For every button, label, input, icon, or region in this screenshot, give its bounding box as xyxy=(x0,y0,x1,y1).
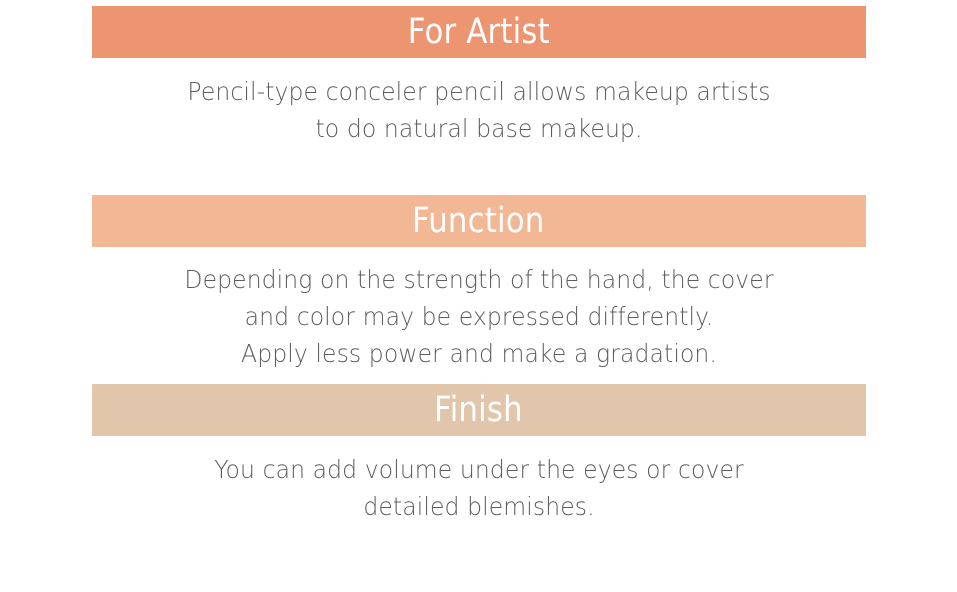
section-header-band-function: Function xyxy=(92,195,866,247)
section-header-band-finish: Finish xyxy=(92,384,866,436)
section-body-finish: You can add volume under the eyes or cov… xyxy=(107,451,850,525)
section-heading-finish: Finish xyxy=(434,393,523,428)
product-description-panel: For Artist Pencil-type conceler pencil a… xyxy=(0,0,957,592)
section-finish: Finish You can add volume under the eyes… xyxy=(0,384,957,525)
section-body-function: Depending on the strength of the hand, t… xyxy=(107,261,850,372)
section-heading-function: Function xyxy=(412,204,544,239)
section-heading-for-artist: For Artist xyxy=(407,15,549,50)
section-header-band-for-artist: For Artist xyxy=(92,6,866,58)
section-for-artist: For Artist Pencil-type conceler pencil a… xyxy=(0,6,957,147)
section-body-for-artist: Pencil-type conceler pencil allows makeu… xyxy=(107,73,850,147)
section-function: Function Depending on the strength of th… xyxy=(0,195,957,372)
